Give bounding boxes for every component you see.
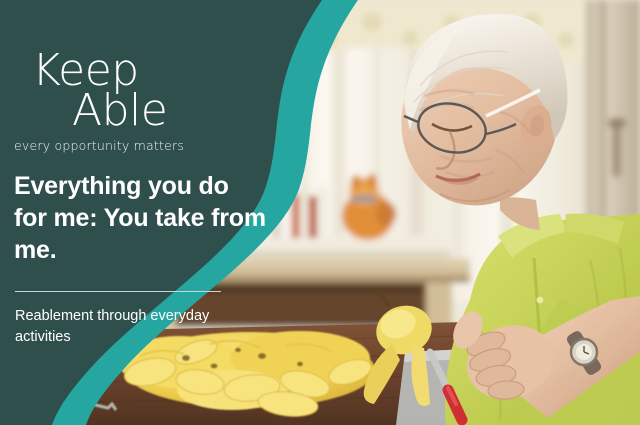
- logo-word-able: Able: [72, 90, 260, 132]
- divider-rule: [15, 291, 221, 292]
- headline: Everything you do for me: You take from …: [14, 170, 266, 266]
- keep-able-banner: Keep Able every opportunity matters Ever…: [0, 0, 640, 425]
- subtitle: Reablement through everyday activities: [15, 306, 245, 347]
- keep-able-logo[interactable]: Keep Able every opportunity matters: [30, 50, 260, 153]
- logo-tagline: every opportunity matters: [14, 138, 260, 153]
